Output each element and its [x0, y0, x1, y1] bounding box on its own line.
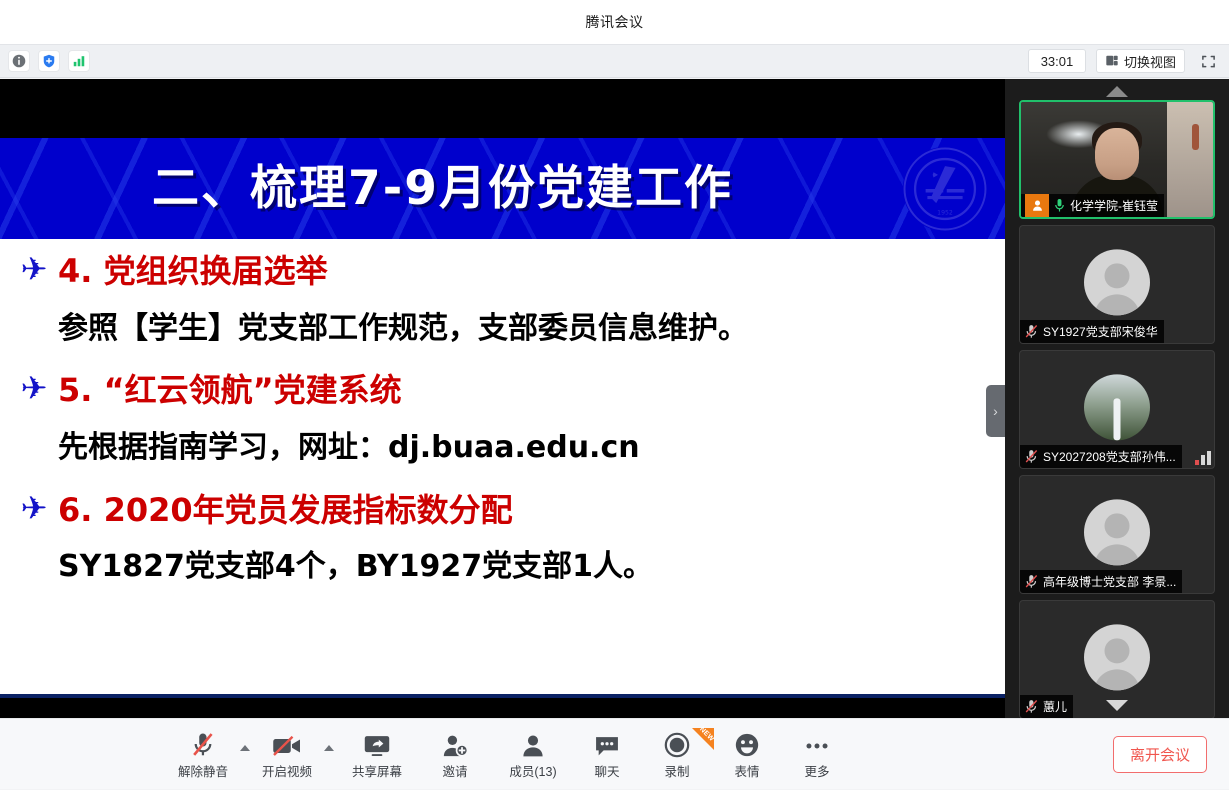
slide-title-banner: 二、梳理7-9月份党建工作 1952: [0, 138, 1005, 239]
airplane-bullet-icon: ✈: [14, 372, 54, 404]
host-badge-icon: [1025, 194, 1049, 217]
record-label: 录制: [664, 761, 689, 780]
video-options-caret[interactable]: [320, 724, 338, 786]
slide-heading-4: 4. 党组织换届选举: [58, 253, 328, 290]
fullscreen-button[interactable]: [1195, 49, 1221, 73]
unmute-label: 解除静音: [178, 761, 228, 780]
switch-view-icon: [1105, 54, 1119, 68]
record-button[interactable]: 录制 NEW: [642, 724, 712, 786]
invite-label: 邀请: [442, 761, 467, 780]
collapse-panel-handle[interactable]: ›: [986, 385, 1005, 437]
scroll-up-button[interactable]: [1005, 82, 1229, 100]
microphone-on-icon: [1053, 198, 1066, 213]
start-video-button[interactable]: 开启视频: [254, 724, 320, 786]
people-icon: [520, 730, 546, 758]
participant-name-bar: 化学学院-崔钰莹: [1021, 194, 1164, 217]
members-button[interactable]: 成员(13): [494, 724, 572, 786]
slide-heading-5: 5. “红云领航”党建系统: [58, 372, 402, 409]
chevron-up-icon: [240, 745, 250, 751]
participant-tile[interactable]: 化学学院-崔钰莹: [1019, 100, 1215, 219]
meeting-timer: 33:01: [1028, 49, 1086, 73]
start-video-label: 开启视频: [262, 761, 312, 780]
record-circle-icon: [664, 730, 690, 758]
default-avatar: [1084, 624, 1150, 690]
chat-button[interactable]: 聊天: [572, 724, 642, 786]
shield-plus-icon[interactable]: [38, 50, 60, 72]
more-button[interactable]: 更多: [782, 724, 852, 786]
shared-screen-area[interactable]: 二、梳理7-9月份党建工作 1952 ✈ 4. 党组织换届选举: [0, 79, 1005, 718]
participant-name: 高年级博士党支部 李景...: [1043, 573, 1176, 590]
microphone-muted-icon: [1024, 324, 1039, 339]
microphone-muted-icon: [191, 730, 215, 758]
slide-body: ✈ 4. 党组织换届选举 参照【学生】党支部工作规范，支部委员信息维护。 ✈ 5…: [0, 239, 1005, 694]
slide-bullet-line: ✈ 5. “红云领航”党建系统: [14, 372, 1005, 409]
participant-name: 化学学院-崔钰莹: [1070, 197, 1158, 214]
camera-off-icon: [272, 730, 302, 758]
chevron-down-icon: [1106, 700, 1128, 711]
toolbar-right-group: 33:01 切换视图: [1028, 49, 1221, 73]
participant-name: SY1927党支部宋俊华: [1043, 323, 1158, 340]
slide-subtext-4: 参照【学生】党支部工作规范，支部委员信息维护。: [14, 312, 1005, 347]
default-avatar: [1084, 499, 1150, 565]
network-signal-icon: [1195, 451, 1211, 465]
unmute-button[interactable]: 解除静音: [170, 724, 236, 786]
fullscreen-icon: [1201, 54, 1216, 69]
members-label: 成员(13): [509, 761, 556, 780]
slide-title: 二、梳理7-9月份党建工作: [0, 138, 1005, 239]
invite-button[interactable]: 邀请: [416, 724, 494, 786]
slide-subtext-5: 先根据指南学习，网址：dj.buaa.edu.cn: [14, 431, 1005, 466]
meeting-control-bar: 解除静音 开启视频 共享屏幕: [0, 718, 1229, 789]
leave-meeting-button[interactable]: 离开会议: [1113, 736, 1207, 773]
more-label: 更多: [804, 761, 829, 780]
emoji-label: 表情: [734, 761, 759, 780]
new-badge: NEW: [692, 728, 714, 750]
smiley-face-icon: [734, 730, 760, 758]
chat-label: 聊天: [594, 761, 619, 780]
participant-name: SY2027208党支部孙伟...: [1043, 448, 1176, 465]
slide-footer-bar: [0, 694, 1005, 698]
participant-tile[interactable]: SY1927党支部宋俊华: [1019, 225, 1215, 344]
share-screen-label: 共享屏幕: [352, 761, 402, 780]
participant-tile-list: 化学学院-崔钰莹 SY1927党支部宋俊华: [1005, 100, 1229, 718]
participant-name-bar: 高年级博士党支部 李景...: [1020, 570, 1182, 593]
photo-avatar: [1084, 374, 1150, 440]
app-title: 腾讯会议: [586, 12, 644, 32]
person-add-icon: [442, 730, 468, 758]
chat-bubble-icon: [594, 730, 620, 758]
share-screen-button[interactable]: 共享屏幕: [338, 724, 416, 786]
microphone-muted-icon: [1024, 574, 1039, 589]
signal-bars-icon[interactable]: [68, 50, 90, 72]
emoji-button[interactable]: 表情: [712, 724, 782, 786]
slide-subtext-6: SY1827党支部4个，BY1927党支部1人。: [14, 550, 1005, 585]
participant-name-bar: SY2027208党支部孙伟...: [1020, 445, 1182, 468]
presentation-slide: 二、梳理7-9月份党建工作 1952 ✈ 4. 党组织换届选举: [0, 138, 1005, 698]
slide-bullet-line: ✈ 6. 2020年党员发展指标数分配: [14, 492, 1005, 529]
info-icon[interactable]: [8, 50, 30, 72]
slide-heading-6: 6. 2020年党员发展指标数分配: [58, 492, 513, 529]
screen-share-icon: [363, 730, 391, 758]
microphone-muted-icon: [1024, 449, 1039, 464]
participant-name-bar: SY1927党支部宋俊华: [1020, 320, 1164, 343]
audio-options-caret[interactable]: [236, 724, 254, 786]
meeting-toolbar: 33:01 切换视图: [0, 44, 1229, 78]
participant-tile[interactable]: SY2027208党支部孙伟...: [1019, 350, 1215, 469]
scroll-down-button[interactable]: [1005, 696, 1229, 714]
switch-view-button[interactable]: 切换视图: [1096, 49, 1185, 73]
participant-tile[interactable]: 高年级博士党支部 李景...: [1019, 475, 1215, 594]
ellipsis-icon: [804, 730, 830, 758]
airplane-bullet-icon: ✈: [14, 253, 54, 285]
chevron-up-icon: [324, 745, 334, 751]
airplane-bullet-icon: ✈: [14, 492, 54, 524]
default-avatar: [1084, 249, 1150, 315]
window-title-bar: 腾讯会议: [0, 0, 1229, 44]
chevron-up-icon: [1106, 86, 1128, 97]
control-button-group: 解除静音 开启视频 共享屏幕: [170, 719, 852, 790]
buaa-university-logo-icon: 1952: [901, 145, 989, 233]
participant-video-panel: 化学学院-崔钰莹 SY1927党支部宋俊华: [1005, 79, 1229, 718]
svg-text:1952: 1952: [937, 210, 953, 217]
slide-bullet-line: ✈ 4. 党组织换届选举: [14, 253, 1005, 290]
switch-view-label: 切换视图: [1124, 52, 1176, 71]
meeting-stage: 二、梳理7-9月份党建工作 1952 ✈ 4. 党组织换届选举: [0, 79, 1229, 718]
